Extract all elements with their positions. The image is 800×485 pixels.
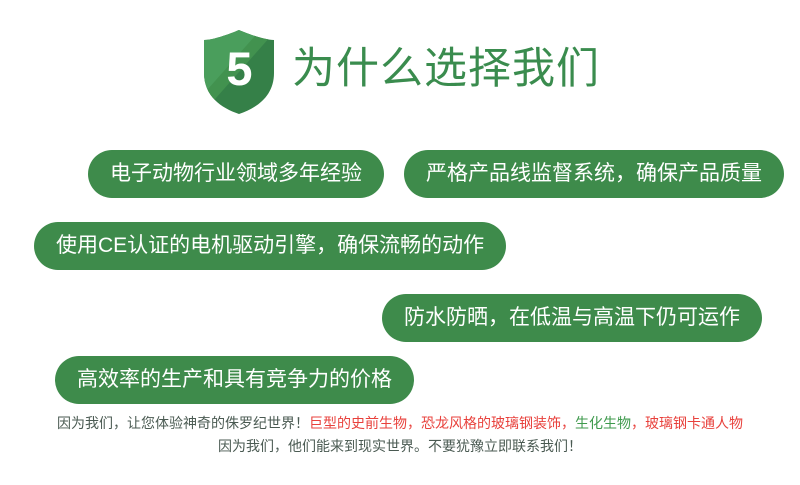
feature-pill-list: 电子动物行业领域多年经验 严格产品线监督系统，确保产品质量 使用CE认证的电机驱… (0, 150, 800, 400)
footer-text-block: 因为我们，让您体验神奇的侏罗纪世界！巨型的史前生物，恐龙风格的玻璃钢装饰，生化生… (0, 412, 800, 458)
footer-line1-seg4: ，玻璃钢卡通人物 (631, 415, 743, 431)
feature-pill[interactable]: 防水防晒，在低温与高温下仍可运作 (382, 294, 762, 342)
footer-line1-seg2: 巨型的史前生物，恐龙风格的玻璃钢装饰， (309, 415, 575, 431)
footer-line1-seg3: 生化生物 (575, 415, 631, 431)
feature-row-4: 高效率的生产和具有竞争力的价格 (0, 356, 800, 404)
footer-line2-seg1: 因为我们，他们能来到现实世界。不要犹豫立即联系我们！ (218, 438, 582, 454)
footer-line1-seg1: 因为我们，让您体验神奇的侏罗纪世界！ (57, 415, 309, 431)
feature-row-3: 防水防晒，在低温与高温下仍可运作 (0, 294, 800, 342)
shield-icon: 5 (200, 28, 278, 116)
feature-pill[interactable]: 电子动物行业领域多年经验 (88, 150, 384, 198)
feature-pill[interactable]: 使用CE认证的电机驱动引擎，确保流畅的动作 (34, 222, 506, 270)
feature-row-2: 使用CE认证的电机驱动引擎，确保流畅的动作 (0, 222, 800, 270)
footer-line-2: 因为我们，他们能来到现实世界。不要犹豫立即联系我们！ (0, 435, 800, 458)
page-title: 为什么选择我们 (292, 48, 600, 97)
badge-number: 5 (200, 28, 278, 116)
feature-pill[interactable]: 高效率的生产和具有竞争力的价格 (55, 356, 414, 404)
feature-row-1: 电子动物行业领域多年经验 严格产品线监督系统，确保产品质量 (0, 150, 800, 198)
feature-pill[interactable]: 严格产品线监督系统，确保产品质量 (404, 150, 784, 198)
footer-line-1: 因为我们，让您体验神奇的侏罗纪世界！巨型的史前生物，恐龙风格的玻璃钢装饰，生化生… (0, 412, 800, 435)
page-header: 5 为什么选择我们 (0, 26, 800, 118)
